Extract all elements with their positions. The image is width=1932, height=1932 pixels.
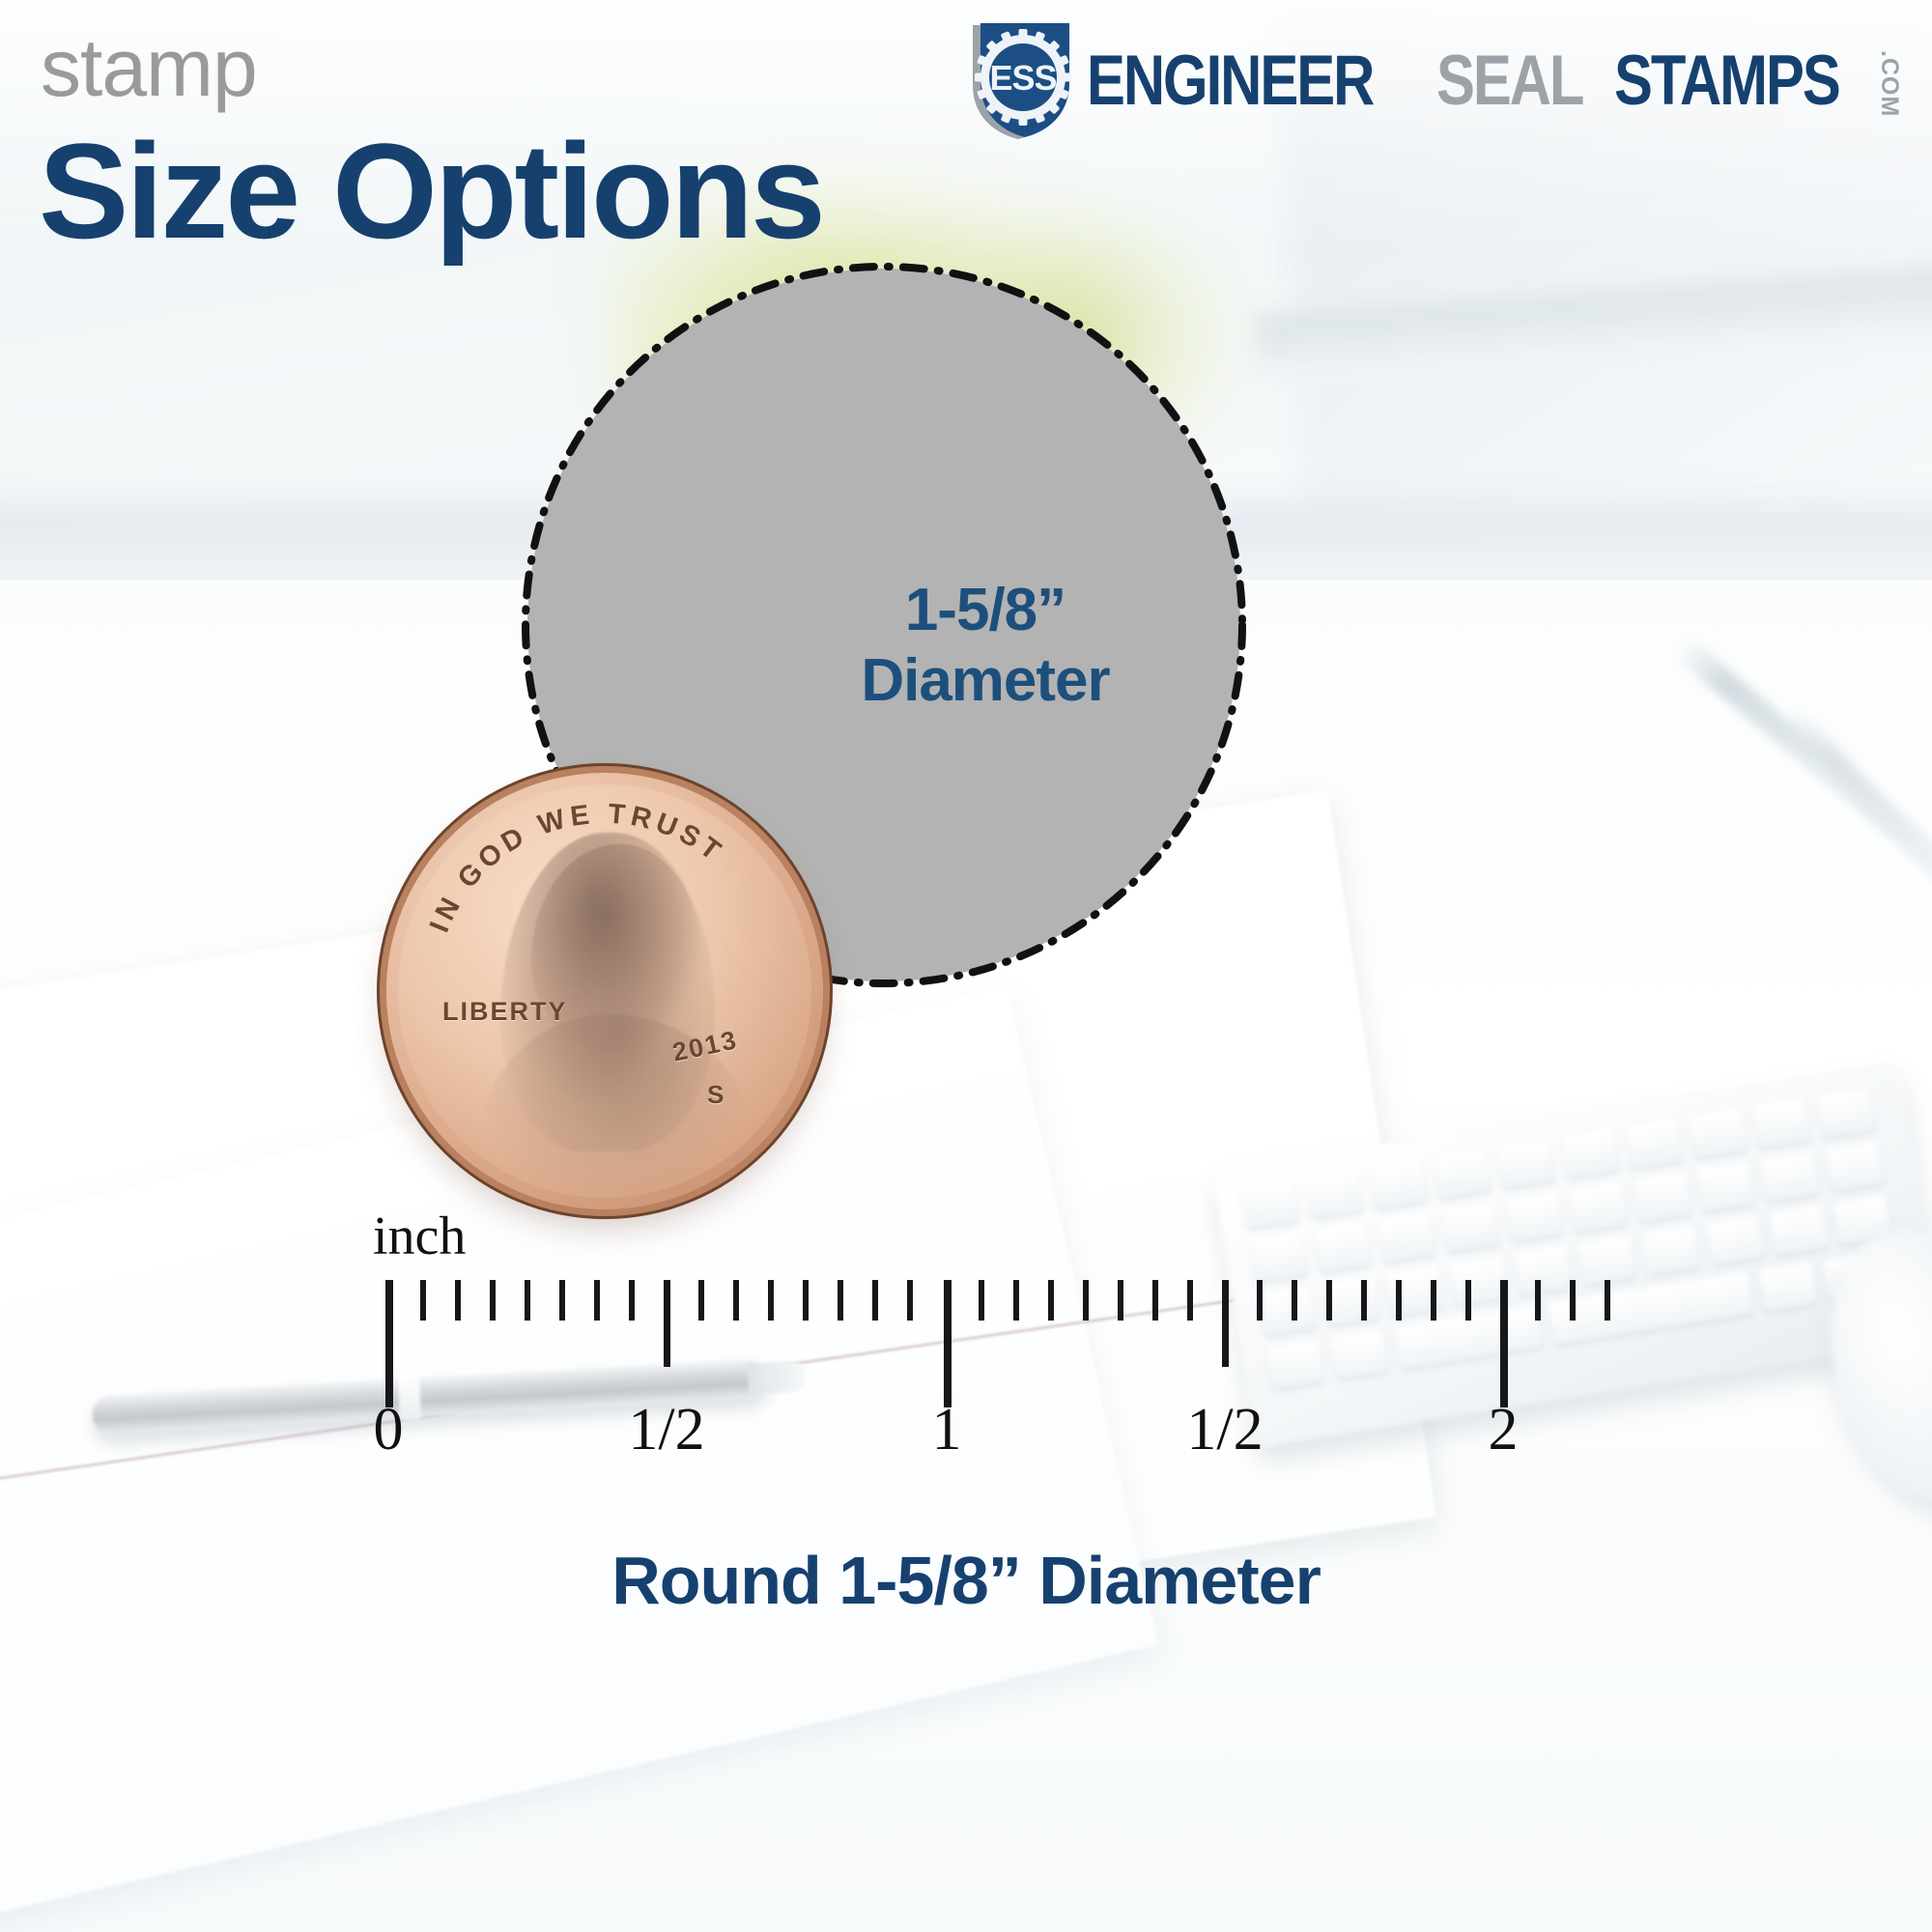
coin-liberty-text: LIBERTY — [442, 997, 568, 1027]
logo-word-stamps: STAMPS — [1614, 45, 1839, 116]
keyboard-key — [1760, 1151, 1820, 1202]
pen-grip — [398, 1375, 422, 1422]
pen-tip — [748, 1360, 808, 1394]
size-caption: Round 1-5/8” Diameter — [0, 1542, 1932, 1619]
keyboard-key — [1513, 1245, 1573, 1295]
keyboard-key — [1433, 1149, 1492, 1199]
keyboard-key — [1696, 1162, 1756, 1212]
ess-shield-gear-icon: ESS — [959, 19, 1073, 141]
keyboard-key — [1304, 1169, 1364, 1219]
keyboard-key — [1769, 1205, 1829, 1255]
keyboard-key — [1258, 1286, 1318, 1336]
keyboard-key — [1577, 1236, 1636, 1286]
logo-word-seal: SEAL — [1436, 45, 1582, 116]
coin-motto-text: IN GOD WE TRUST — [386, 773, 823, 1209]
keyboard-key — [1505, 1192, 1565, 1242]
keyboard-key — [1824, 1142, 1884, 1192]
keyboard-key — [1688, 1108, 1747, 1158]
page-title: Size Options — [39, 124, 823, 259]
svg-text:ESS: ESS — [990, 58, 1057, 98]
keyboard-key — [1816, 1088, 1876, 1138]
keyboard-key — [1624, 1119, 1684, 1169]
stamp-size-label: 1-5/8” Diameter — [502, 575, 1468, 716]
logo-word-engineer: ENGINEER — [1087, 45, 1373, 116]
keyboard-key — [1330, 1329, 1390, 1379]
stamp-size-unit: Diameter — [502, 645, 1468, 716]
penny-coin-image: IN GOD WE TRUST LIBERTY 2013 S — [386, 773, 823, 1209]
keyboard-key — [1321, 1276, 1381, 1326]
keyboard-key — [1751, 1098, 1811, 1149]
keyboard-key — [1705, 1215, 1765, 1265]
keyboard-key — [1496, 1139, 1556, 1189]
keyboard-key — [1265, 1340, 1325, 1390]
stamp-wordmark: stamp — [41, 27, 257, 108]
logo-word-dotcom: .COM — [1875, 50, 1903, 117]
keyboard-key — [1560, 1128, 1620, 1179]
keyboard-key — [1641, 1225, 1701, 1275]
keyboard-key — [1240, 1179, 1300, 1230]
ess-logo[interactable]: ESS ENGINEER SEAL STAMPS .COM — [959, 19, 1903, 141]
keyboard-key — [1249, 1233, 1309, 1283]
keyboard-key — [1368, 1159, 1428, 1209]
keyboard-key — [1569, 1182, 1629, 1233]
keyboard-key — [1758, 1262, 1818, 1312]
keyboard-key — [1633, 1172, 1692, 1222]
keyboard-key — [1377, 1212, 1436, 1263]
svg-text:IN GOD WE TRUST: IN GOD WE TRUST — [424, 799, 730, 937]
stamp-size-value: 1-5/8” — [905, 577, 1065, 643]
size-options-graphic: stamp — [0, 0, 1932, 1932]
coin-mint-mark-text: S — [707, 1080, 724, 1110]
keyboard-key — [1313, 1223, 1373, 1273]
keyboard-key — [1440, 1203, 1500, 1253]
keyboard-key — [1385, 1265, 1445, 1316]
ess-wordmark: ENGINEER SEAL STAMPS .COM — [1087, 45, 1903, 116]
keyboard-key — [1449, 1256, 1509, 1306]
